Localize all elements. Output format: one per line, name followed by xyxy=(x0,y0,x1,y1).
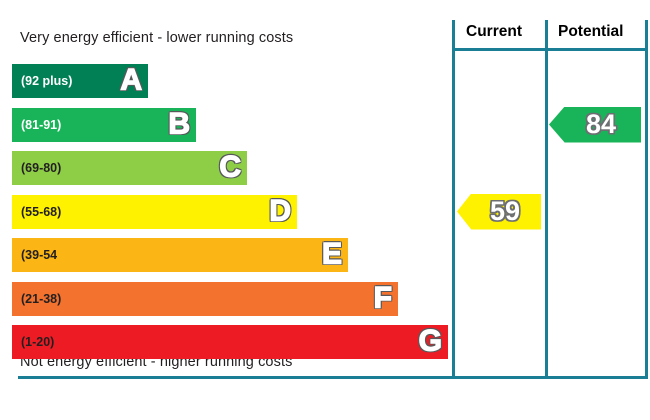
rating-band-f: (21-38)F xyxy=(12,282,398,316)
band-range-label-d: (55-68) xyxy=(21,205,61,219)
band-letter-e: E xyxy=(322,239,342,269)
table-middle-rule xyxy=(545,20,548,379)
top-caption: Very energy efficient - lower running co… xyxy=(20,30,293,46)
rating-band-a: (92 plus)A xyxy=(12,64,148,98)
rating-band-c: (69-80)C xyxy=(12,151,247,185)
column-header-potential: Potential xyxy=(558,23,623,41)
table-left-rule xyxy=(452,20,455,379)
band-letter-f: F xyxy=(374,283,392,313)
rating-band-e: (39-54E xyxy=(12,238,348,272)
column-header-current: Current xyxy=(466,23,522,41)
rating-band-g: (1-20)G xyxy=(12,325,448,359)
band-range-label-b: (81-91) xyxy=(21,118,61,132)
potential-rating-arrow: 84 xyxy=(549,107,641,143)
bottom-frame-rule xyxy=(18,376,648,379)
energy-efficiency-rating-chart: Very energy efficient - lower running co… xyxy=(0,0,650,420)
band-range-label-g: (1-20) xyxy=(21,335,54,349)
band-range-label-e: (39-54 xyxy=(21,248,57,262)
band-letter-a: A xyxy=(120,65,142,95)
band-range-label-c: (69-80) xyxy=(21,161,61,175)
rating-band-d: (55-68)D xyxy=(12,195,297,229)
current-rating-arrow: 59 xyxy=(457,194,541,230)
band-letter-g: G xyxy=(419,326,442,356)
header-divider-rule xyxy=(452,48,648,51)
band-letter-b: B xyxy=(168,109,190,139)
rating-band-b: (81-91)B xyxy=(12,108,196,142)
band-range-label-a: (92 plus) xyxy=(21,74,72,88)
potential-rating-value: 84 xyxy=(574,111,616,138)
current-rating-value: 59 xyxy=(478,198,520,225)
table-right-rule xyxy=(645,20,648,379)
band-letter-d: D xyxy=(269,196,291,226)
band-letter-c: C xyxy=(219,152,241,182)
band-range-label-f: (21-38) xyxy=(21,292,61,306)
